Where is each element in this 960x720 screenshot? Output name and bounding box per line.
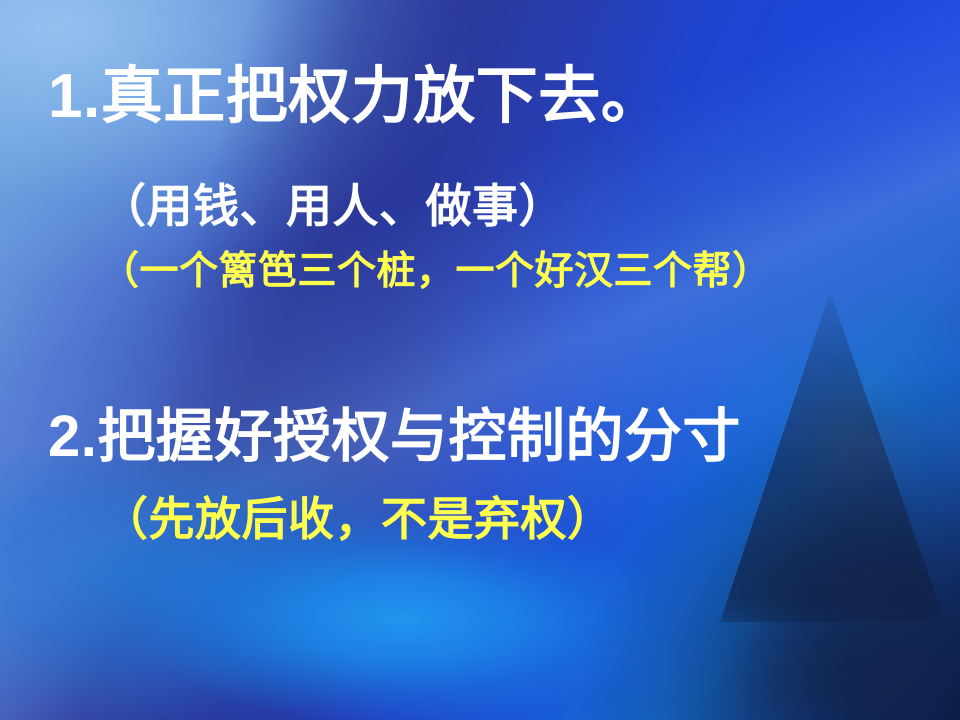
slide-subnote-item-1: （用钱、用人、做事） xyxy=(100,183,565,229)
slide-proverb-item-1: （一个篱笆三个桩，一个好汉三个帮） xyxy=(100,252,772,291)
slide-subnote-item-2: （先放后收，不是弃权） xyxy=(102,496,614,542)
presentation-slide: 1.真正把权力放下去。 （用钱、用人、做事） （一个篱笆三个桩，一个好汉三个帮）… xyxy=(0,0,960,720)
slide-heading-item-2: 2.把握好授权与控制的分寸 xyxy=(48,408,741,466)
slide-heading-item-1: 1.真正把权力放下去。 xyxy=(48,66,663,128)
slide-text-body: 1.真正把权力放下去。 （用钱、用人、做事） （一个篱笆三个桩，一个好汉三个帮）… xyxy=(0,0,960,720)
